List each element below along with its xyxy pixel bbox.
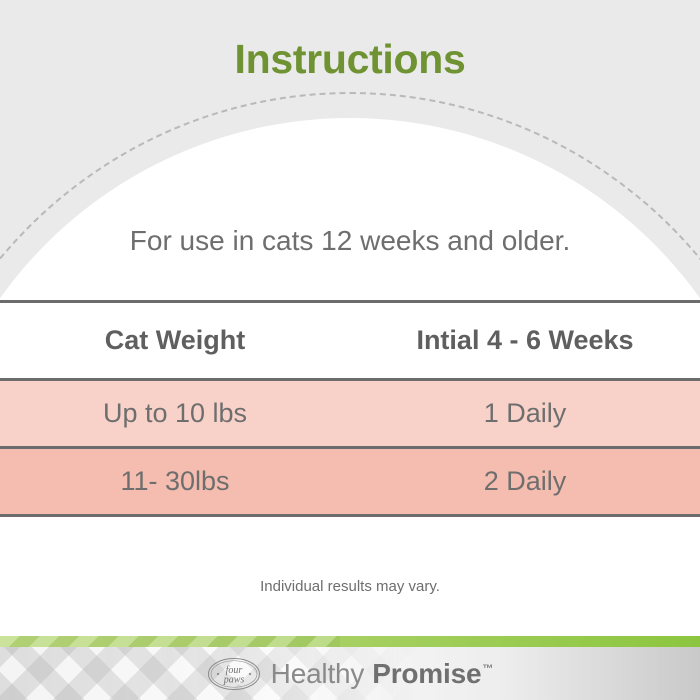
dosage-table: Cat Weight Intial 4 - 6 Weeks Up to 10 l… [0,300,700,517]
table-header-row: Cat Weight Intial 4 - 6 Weeks [0,302,700,380]
brand-word-healthy: Healthy [271,658,365,690]
intro-text: For use in cats 12 weeks and older. [0,225,700,257]
trademark-symbol: ™ [482,663,493,675]
column-header-cat-weight: Cat Weight [0,302,350,380]
green-accent-bar [0,636,700,647]
instructions-panel: Instructions For use in cats 12 weeks an… [0,0,700,700]
logo-word-paws: paws [222,674,244,685]
brand-footer: four paws Healthy Promise ™ [0,636,700,700]
brand-lockup: four paws Healthy Promise ™ [0,647,700,700]
table-row: Up to 10 lbs 1 Daily [0,380,700,448]
page-title: Instructions [0,36,700,83]
cell-dose: 2 Daily [350,448,700,516]
cell-weight: 11- 30lbs [0,448,350,516]
brand-word-promise: Promise [372,658,481,690]
disclaimer-text: Individual results may vary. [0,578,700,595]
cell-dose: 1 Daily [350,380,700,448]
green-diamond-pattern [0,636,340,647]
table-row: 11- 30lbs 2 Daily [0,448,700,516]
cell-weight: Up to 10 lbs [0,380,350,448]
brand-wordmark: Healthy Promise ™ [271,658,494,690]
column-header-initial-weeks: Intial 4 - 6 Weeks [350,302,700,380]
white-arc-shape [0,118,700,302]
four-paws-logo-icon: four paws [207,657,261,691]
